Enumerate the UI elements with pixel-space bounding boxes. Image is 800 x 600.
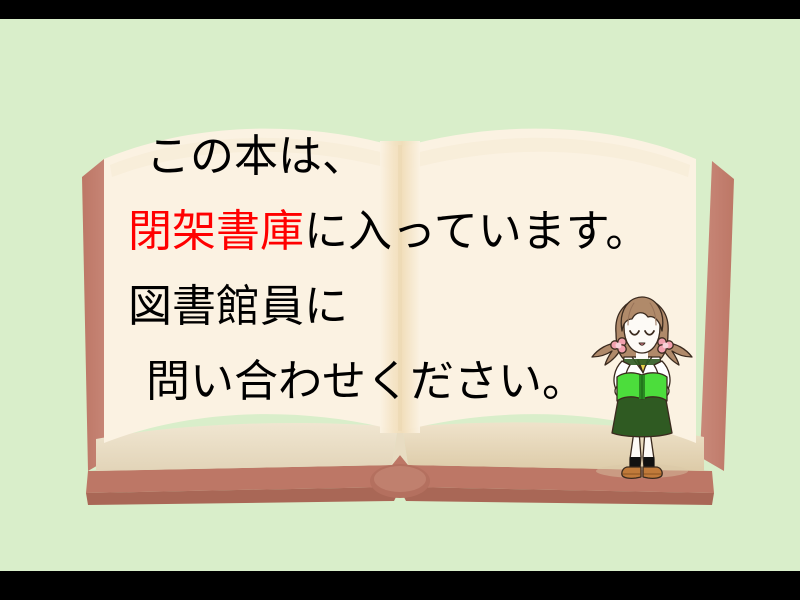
letterbox-bar-bottom [0,571,800,600]
held-book [617,373,667,401]
shoe-right [643,467,662,478]
slide-stage: この本は、 閉架書庫に入っています。 図書館員に 問い合わせください。 [0,0,800,600]
message-line-4-text: 問い合わせください。 [146,356,586,407]
message-line-1-text: この本は、 [146,131,366,182]
illustration-canvas: この本は、 閉架書庫に入っています。 図書館員に 問い合わせください。 [0,19,800,571]
book-cover-right [700,161,734,471]
girl-reading-book-illustration [584,291,700,483]
message-line-2-rest: に入っています。 [304,206,649,257]
letterbox-bar-top [0,0,800,19]
message-line-2: 閉架書庫に入っています。 [128,194,688,269]
message-line-3-text: 図書館員に [128,281,348,332]
shoe-left [622,467,641,478]
message-line-1: この本は、 [128,119,688,194]
message-highlight-closed-stacks: 閉架書庫 [128,206,304,257]
legs [622,431,662,478]
